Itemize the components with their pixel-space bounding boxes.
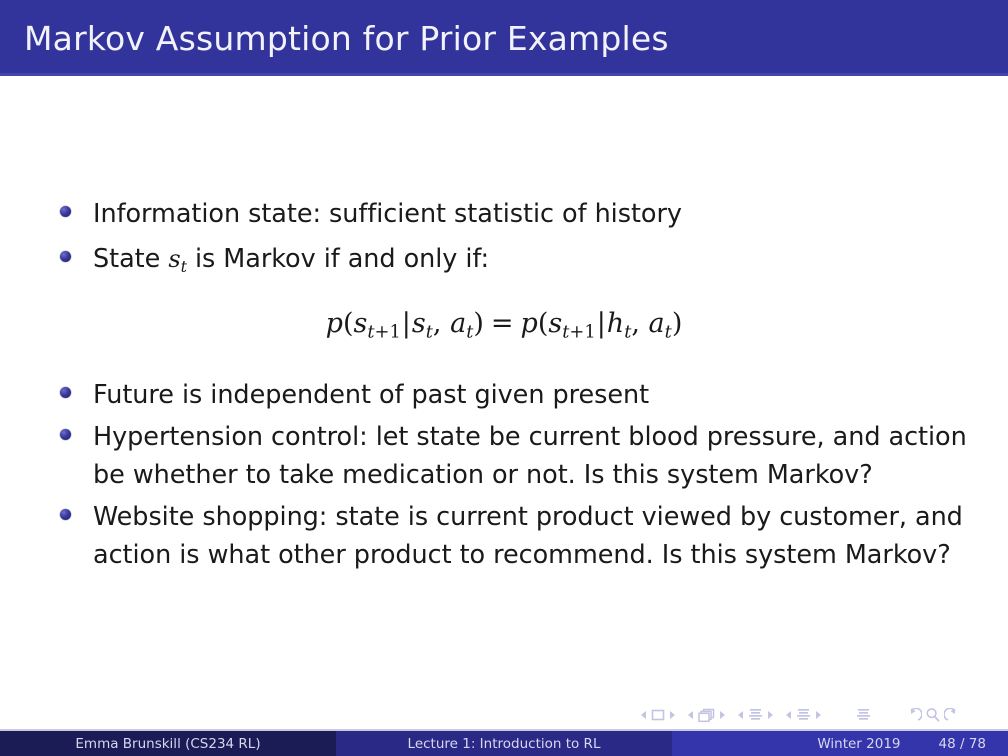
nav-group-frame[interactable] xyxy=(688,708,725,723)
state-bullet-suffix: is Markov if and only if: xyxy=(187,244,489,274)
section-icon[interactable] xyxy=(796,708,811,722)
bullet-sphere-icon xyxy=(60,387,71,398)
footer-lecture-label: Lecture 1: Introduction to RL xyxy=(408,736,601,752)
subsection-icon[interactable] xyxy=(748,708,763,722)
prev-section-icon[interactable] xyxy=(786,711,791,719)
list-item-label: State st is Markov if and only if: xyxy=(93,240,970,286)
list-item: Website shopping: state is current produ… xyxy=(60,498,975,574)
nav-group-history[interactable] xyxy=(906,707,960,723)
prev-slide-icon[interactable] xyxy=(641,711,646,719)
beamer-navigation-bar[interactable] xyxy=(641,703,991,727)
next-subsection-icon[interactable] xyxy=(768,711,773,719)
nav-group-section[interactable] xyxy=(786,708,821,722)
next-frame-icon[interactable] xyxy=(720,711,725,719)
frame-icon[interactable] xyxy=(698,708,715,723)
nav-group-subsection[interactable] xyxy=(738,708,773,722)
display-equation: p(st+1|st, at)=p(st+1|ht, at) xyxy=(0,308,1008,342)
page-title: Markov Assumption for Prior Examples xyxy=(24,19,669,59)
equation-rhs-function: p xyxy=(521,308,538,339)
search-icon[interactable] xyxy=(925,707,941,723)
slide-icon[interactable] xyxy=(651,709,665,721)
prev-frame-icon[interactable] xyxy=(688,711,693,719)
state-bullet-prefix: State xyxy=(93,244,168,274)
document-icon[interactable] xyxy=(856,708,871,722)
equation-relation: = xyxy=(484,308,521,339)
back-icon[interactable] xyxy=(906,708,922,723)
bullet-sphere-icon xyxy=(60,509,71,520)
list-item-label: Hypertension control: let state be curre… xyxy=(93,418,975,494)
prev-subsection-icon[interactable] xyxy=(738,711,743,719)
footer-author-label: Emma Brunskill (CS234 RL) xyxy=(75,736,260,752)
footer-author: Emma Brunskill (CS234 RL) xyxy=(0,731,336,756)
list-item: Information state: sufficient statistic … xyxy=(60,195,970,233)
list-item-label: Website shopping: state is current produ… xyxy=(93,498,975,574)
bullet-sphere-icon xyxy=(60,206,71,217)
footer-date-label: Winter 2019 xyxy=(817,736,900,752)
equation-markov: p(st+1|st, at)=p(st+1|ht, at) xyxy=(326,308,683,339)
list-item-label: Future is independent of past given pres… xyxy=(93,376,975,414)
equation-lhs-function: p xyxy=(326,308,343,339)
list-item: Future is independent of past given pres… xyxy=(60,376,975,414)
bullet-group-bottom: Future is independent of past given pres… xyxy=(60,376,975,578)
list-item: State st is Markov if and only if: xyxy=(60,240,970,286)
bullet-group-top: Information state: sufficient statistic … xyxy=(60,195,970,293)
bullet-sphere-icon xyxy=(60,251,71,262)
footer-meta: Winter 2019 48 / 78 xyxy=(672,731,1008,756)
slide-body: Information state: sufficient statistic … xyxy=(0,76,1008,696)
nav-group-slide[interactable] xyxy=(641,709,675,721)
list-item-label: Information state: sufficient statistic … xyxy=(93,195,970,233)
next-slide-icon[interactable] xyxy=(670,711,675,719)
state-symbol-inline: st xyxy=(168,245,187,273)
footer-lecture: Lecture 1: Introduction to RL xyxy=(336,731,672,756)
nav-group-document[interactable] xyxy=(856,708,871,722)
next-section-icon[interactable] xyxy=(816,711,821,719)
forward-icon[interactable] xyxy=(944,708,960,723)
list-item: Hypertension control: let state be curre… xyxy=(60,418,975,494)
slide-footer: Emma Brunskill (CS234 RL) Lecture 1: Int… xyxy=(0,731,1008,756)
footer-page-number: 48 / 78 xyxy=(939,736,987,752)
bullet-sphere-icon xyxy=(60,429,71,440)
